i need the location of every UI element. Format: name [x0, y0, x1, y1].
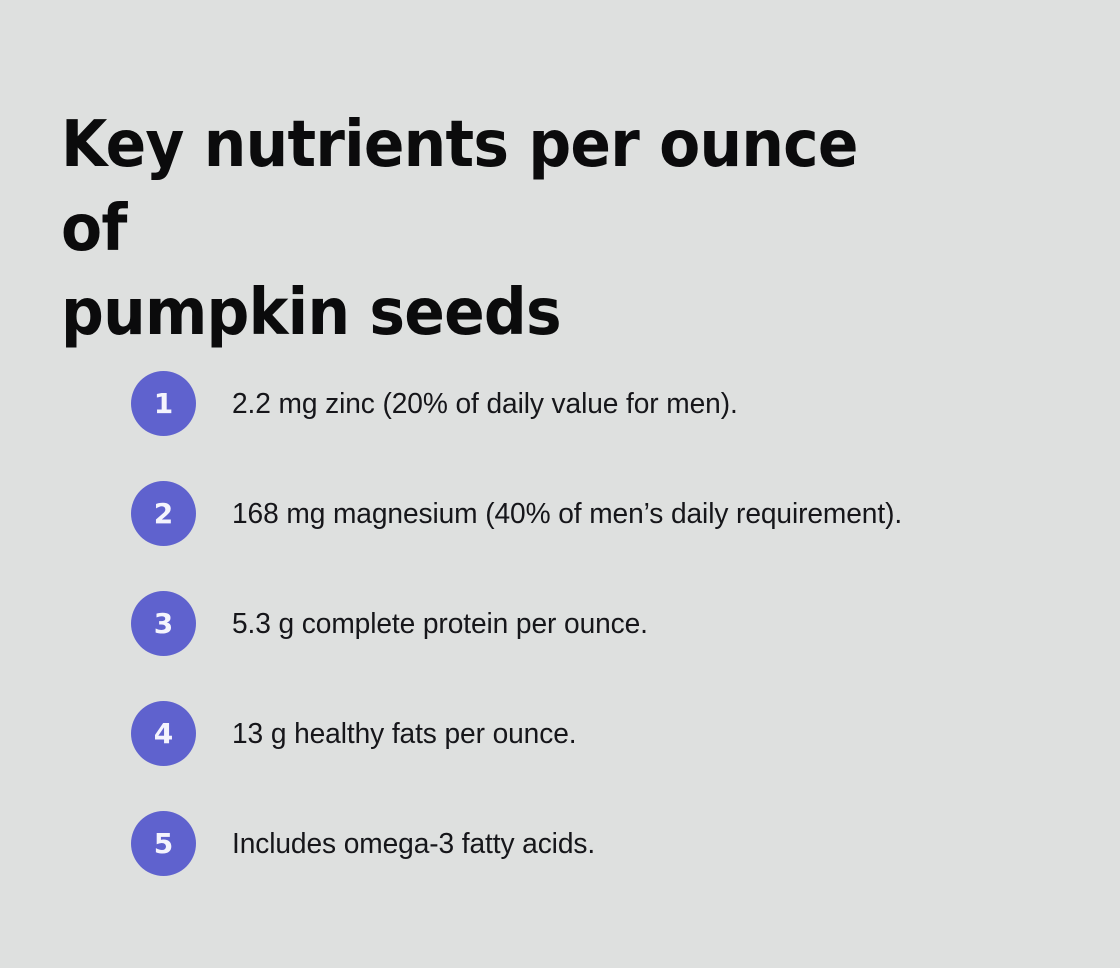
list-item: 1 2.2 mg zinc (20% of daily value for me… — [131, 371, 1071, 436]
step-number-badge: 4 — [131, 701, 196, 766]
infographic-card: Key nutrients per ounce of pumpkin seeds… — [0, 0, 1120, 968]
list-item: 4 13 g healthy fats per ounce. — [131, 701, 1071, 766]
step-number-badge: 1 — [131, 371, 196, 436]
list-item: 5 Includes omega-3 fatty acids. — [131, 811, 1071, 876]
nutrient-list: 1 2.2 mg zinc (20% of daily value for me… — [131, 371, 1071, 876]
list-item-label: 5.3 g complete protein per ounce. — [232, 605, 1046, 643]
list-item-label: 168 mg magnesium (40% of men’s daily req… — [232, 495, 1046, 533]
step-number-badge: 5 — [131, 811, 196, 876]
page-title: Key nutrients per ounce of pumpkin seeds — [61, 103, 903, 355]
step-number-badge: 2 — [131, 481, 196, 546]
list-item-label: 2.2 mg zinc (20% of daily value for men)… — [232, 385, 1046, 423]
list-item-label: 13 g healthy fats per ounce. — [232, 715, 1046, 753]
step-number-badge: 3 — [131, 591, 196, 656]
list-item: 3 5.3 g complete protein per ounce. — [131, 591, 1071, 656]
list-item-label: Includes omega-3 fatty acids. — [232, 825, 1046, 863]
list-item: 2 168 mg magnesium (40% of men’s daily r… — [131, 481, 1071, 546]
